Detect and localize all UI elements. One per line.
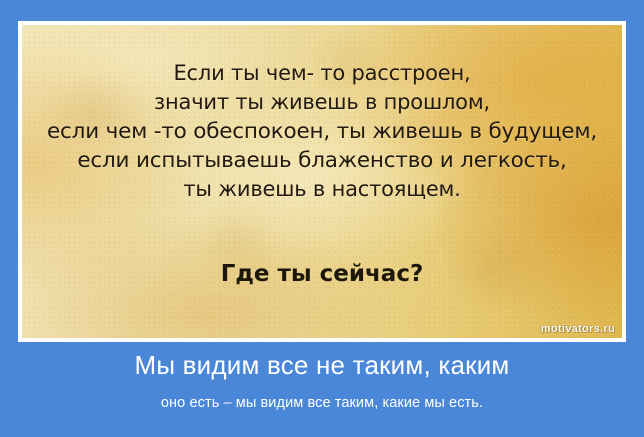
caption-title: Мы видим все не таким, каким <box>0 349 644 381</box>
quote-line-5: ты живешь в настоящем. <box>22 175 622 204</box>
motivator-poster: Если ты чем- то расстроен, значит ты жив… <box>0 0 644 437</box>
watermark-label: motivators.ru <box>541 323 615 335</box>
quote-line-3: если чем -то обеспокоен, ты живешь в буд… <box>22 117 622 146</box>
quote-question: Где ты сейчас? <box>22 260 622 288</box>
quote-line-2: значит ты живешь в прошлом, <box>22 88 622 117</box>
quote-line-1: Если ты чем- то расстроен, <box>22 59 622 88</box>
parchment-background: Если ты чем- то расстроен, значит ты жив… <box>22 25 622 338</box>
caption-subtitle: оно есть – мы видим все таким, какие мы … <box>0 394 644 413</box>
poster-image-frame: Если ты чем- то расстроен, значит ты жив… <box>18 21 626 342</box>
quote-line-4: если испытываешь блаженство и легкость, <box>22 146 622 175</box>
quote-text-block: Если ты чем- то расстроен, значит ты жив… <box>22 59 622 204</box>
